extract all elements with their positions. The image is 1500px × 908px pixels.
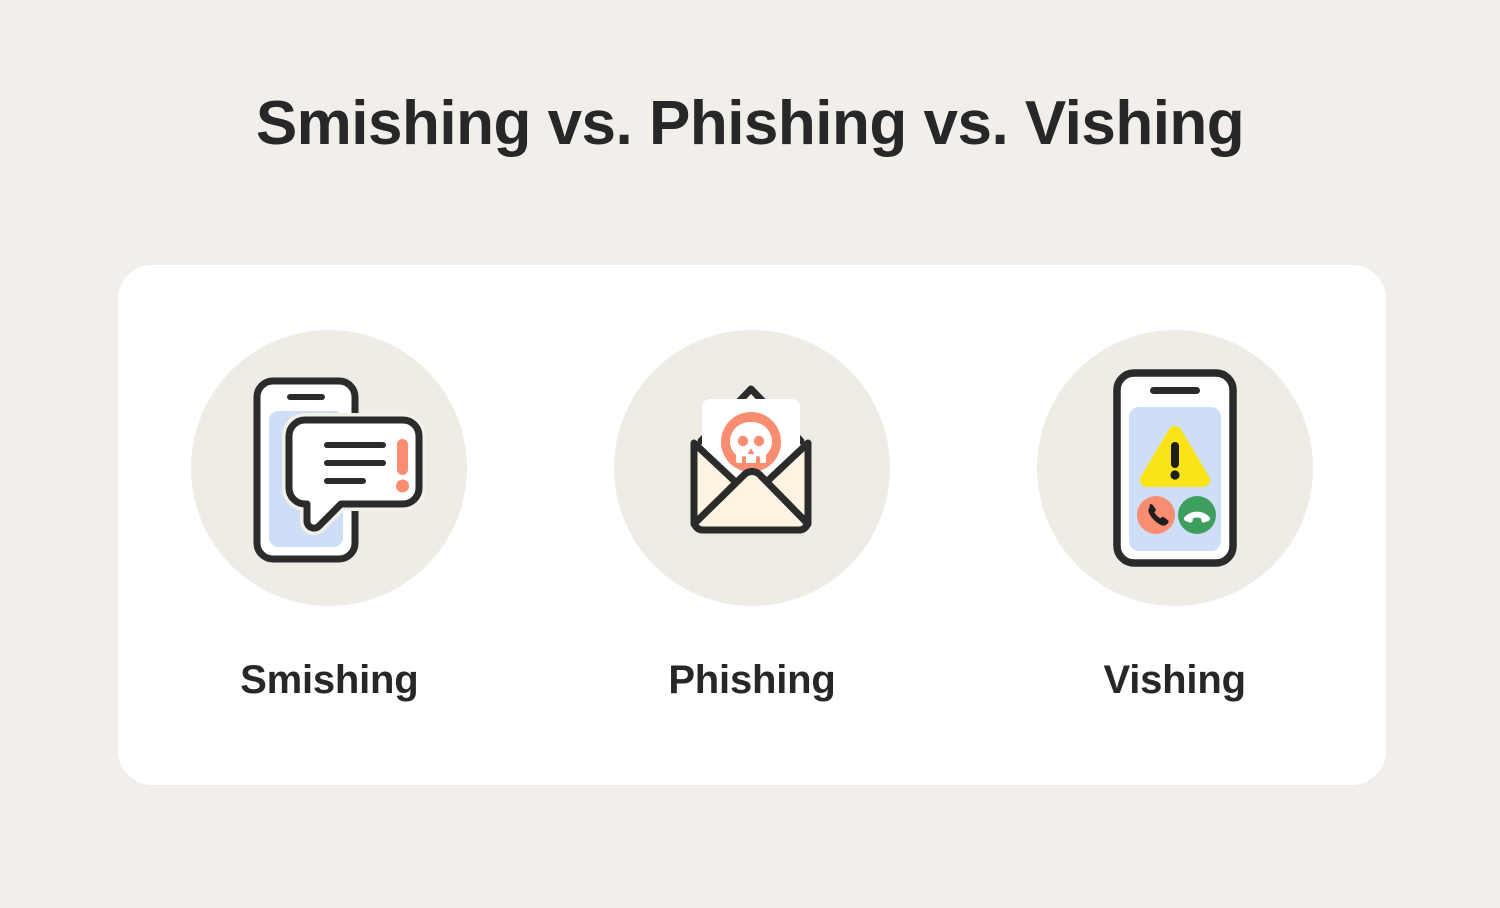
item-vishing: Vishing <box>1010 330 1340 703</box>
icon-circle-smishing <box>191 330 467 606</box>
envelope-skull-icon <box>649 363 854 573</box>
phone-sms-alert-icon <box>229 363 429 573</box>
items-row: Smishing <box>118 265 1386 785</box>
page-title: Smishing vs. Phishing vs. Vishing <box>0 88 1500 159</box>
item-label-phishing: Phishing <box>668 658 835 703</box>
icon-circle-phishing <box>614 330 890 606</box>
item-label-vishing: Vishing <box>1103 658 1245 703</box>
item-smishing: Smishing <box>164 330 494 703</box>
comparison-card: Smishing <box>118 265 1386 785</box>
icon-circle-vishing <box>1037 330 1313 606</box>
phone-call-warning-icon <box>1095 363 1255 573</box>
item-label-smishing: Smishing <box>240 658 418 703</box>
item-phishing: Phishing <box>587 330 917 703</box>
